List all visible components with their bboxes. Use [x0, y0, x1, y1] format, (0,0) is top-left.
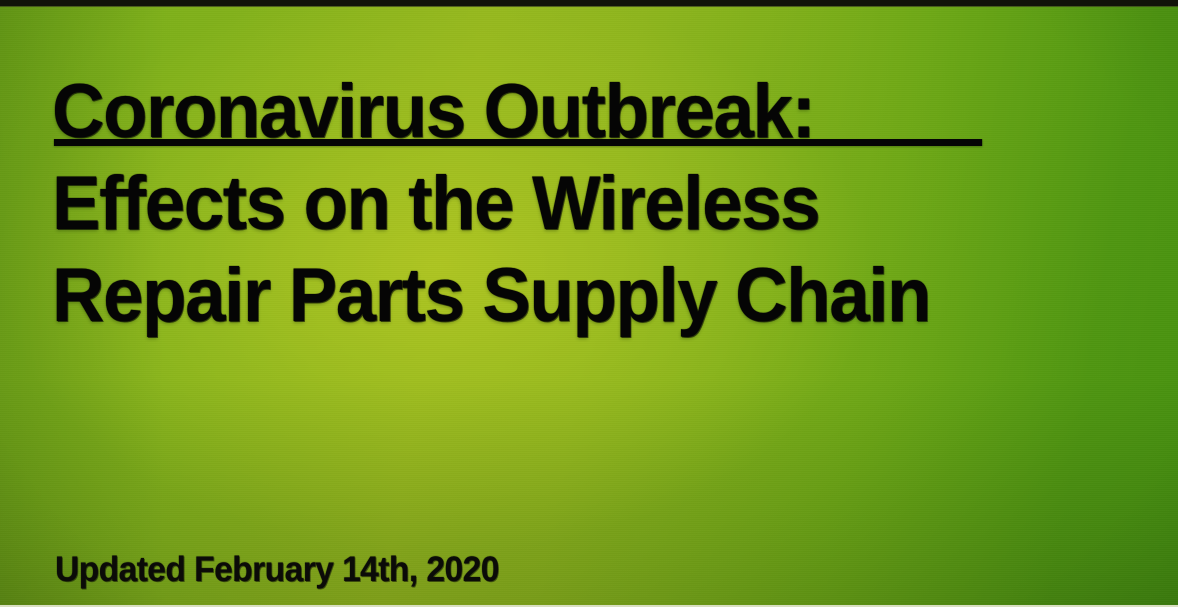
title-line-3: Repair Parts Supply Chain [52, 250, 1093, 342]
slide-content: Coronavirus Outbreak: Effects on the Wir… [0, 0, 1178, 607]
title-line-2: Effects on the Wireless [52, 158, 1093, 250]
letterbox-bar-top [0, 0, 1178, 6]
slide-title: Coronavirus Outbreak: Effects on the Wir… [52, 66, 1142, 342]
updated-date-note: Updated February 14th, 2020 [55, 550, 499, 590]
title-underline-rule [54, 139, 982, 146]
title-line-1: Coronavirus Outbreak: [52, 66, 1093, 158]
slide-frame: Coronavirus Outbreak: Effects on the Wir… [0, 0, 1178, 607]
